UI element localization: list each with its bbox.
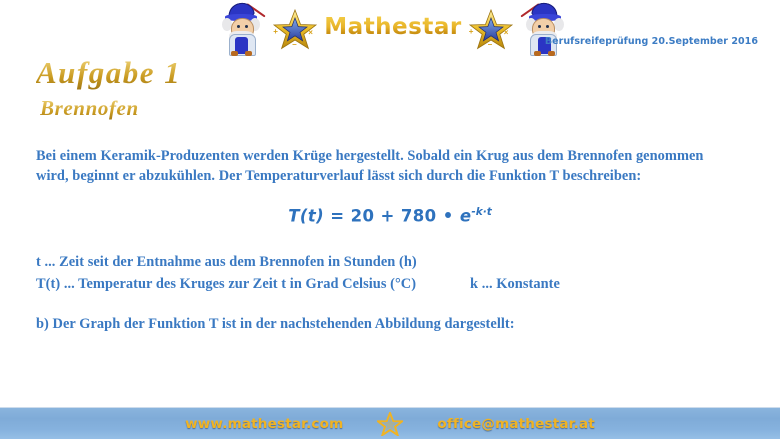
formula-coefficient: 780 (401, 207, 437, 226)
wizard-leg-left (231, 51, 238, 56)
footer-bar: www.mathestar.com office@mathestar.at (0, 407, 780, 439)
exam-date-label: Berufsreifeprüfung 20.September 2016 (545, 36, 758, 47)
question-b-text: b) Der Graph der Funktion T ist in der n… (36, 314, 736, 334)
formula-multiply-dot: • (443, 207, 454, 226)
formula-base-e: e (460, 207, 472, 226)
operator-minus-glyph-2: – (488, 41, 492, 49)
wizard-eye-left (237, 25, 240, 28)
formula-plus: + (381, 207, 395, 226)
header-band: + × – Mathestar + × – (0, 0, 780, 60)
intro-paragraph: Bei einem Keramik-Produzenten werden Krü… (36, 146, 726, 186)
legend-variable-t: t ... Zeit seit der Entnahme aus dem Bre… (36, 252, 736, 272)
page-title: Aufgabe 1 (36, 55, 181, 91)
website-link[interactable]: www.mathestar.com (185, 416, 343, 432)
operator-plus-glyph-2: + (469, 28, 474, 36)
math-star-logo-left-icon: + × – (272, 8, 318, 50)
wizard-eye-right (245, 25, 248, 28)
wizard-leg-right (245, 51, 252, 56)
wizard-hair-left-2 (554, 18, 564, 31)
legend-variable-k: k ... Konstante (470, 274, 730, 294)
math-star-logo-right-icon: + × – (468, 8, 514, 50)
formula-equals: = (330, 207, 344, 226)
formula-function-name: T (288, 207, 300, 226)
email-link[interactable]: office@mathestar.at (437, 416, 595, 432)
operator-plus-glyph: + (273, 28, 278, 36)
wizard-leg-right-2 (534, 51, 541, 56)
brand-wordmark: Mathestar (320, 14, 465, 45)
formula-expression: T(t) = 20 + 780 • e-k·t (0, 206, 780, 226)
formula-exponent: -k·t (471, 206, 491, 218)
wizard-eye-right-2 (538, 25, 541, 28)
wizard-mascot-left-icon (214, 1, 270, 57)
operator-times-glyph: × (308, 29, 313, 37)
formula-argument: (t) (300, 207, 324, 226)
formula-constant: 20 (351, 207, 375, 226)
operator-times-glyph-2: × (504, 29, 509, 37)
star-icon (377, 412, 403, 436)
wizard-leg-left-2 (548, 51, 555, 56)
operator-minus-glyph: – (292, 41, 296, 49)
page-subtitle: Brennofen (40, 96, 139, 121)
wizard-mascot-right-icon (516, 1, 572, 57)
wizard-eye-left-2 (546, 25, 549, 28)
brand-logo-group: + × – Mathestar + × – (248, 0, 538, 58)
